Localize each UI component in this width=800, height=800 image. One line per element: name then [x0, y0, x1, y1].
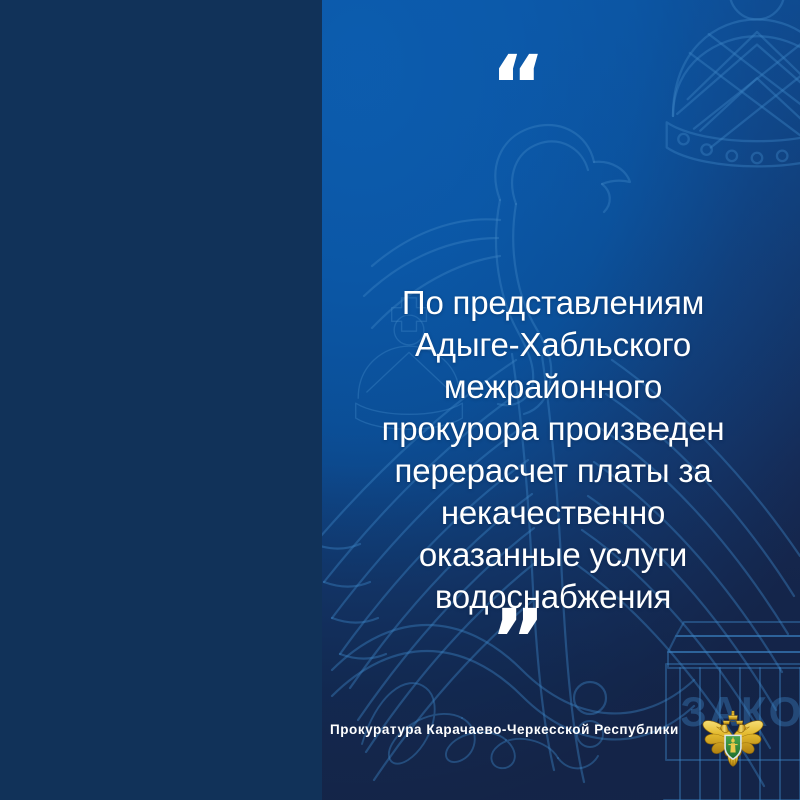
opening-quote-glyph: “ [490, 44, 545, 128]
opening-quote-mark: “ [0, 44, 800, 128]
quote-line: некачественно [330, 492, 776, 534]
quote-line: оказанные услуги [330, 534, 776, 576]
quote-line: Адыге-Хабльского [330, 324, 776, 366]
closing-quote-glyph: ” [490, 598, 545, 682]
poster-canvas: ЗАКОН “ По представлениям Адыге-Хабльско… [0, 0, 800, 800]
quote-line: По представлениям [330, 282, 776, 324]
closing-quote-mark: ” [0, 598, 800, 682]
quote-line: прокурора произведен [330, 408, 776, 450]
quote-text-block: По представлениям Адыге-Хабльского межра… [330, 282, 776, 618]
prosecutor-office-eagle-emblem [700, 705, 766, 771]
organization-name: Прокуратура Карачаево-Черкесской Республ… [330, 722, 690, 737]
quote-line: межрайонного [330, 366, 776, 408]
quote-line: перерасчет платы за [330, 450, 776, 492]
